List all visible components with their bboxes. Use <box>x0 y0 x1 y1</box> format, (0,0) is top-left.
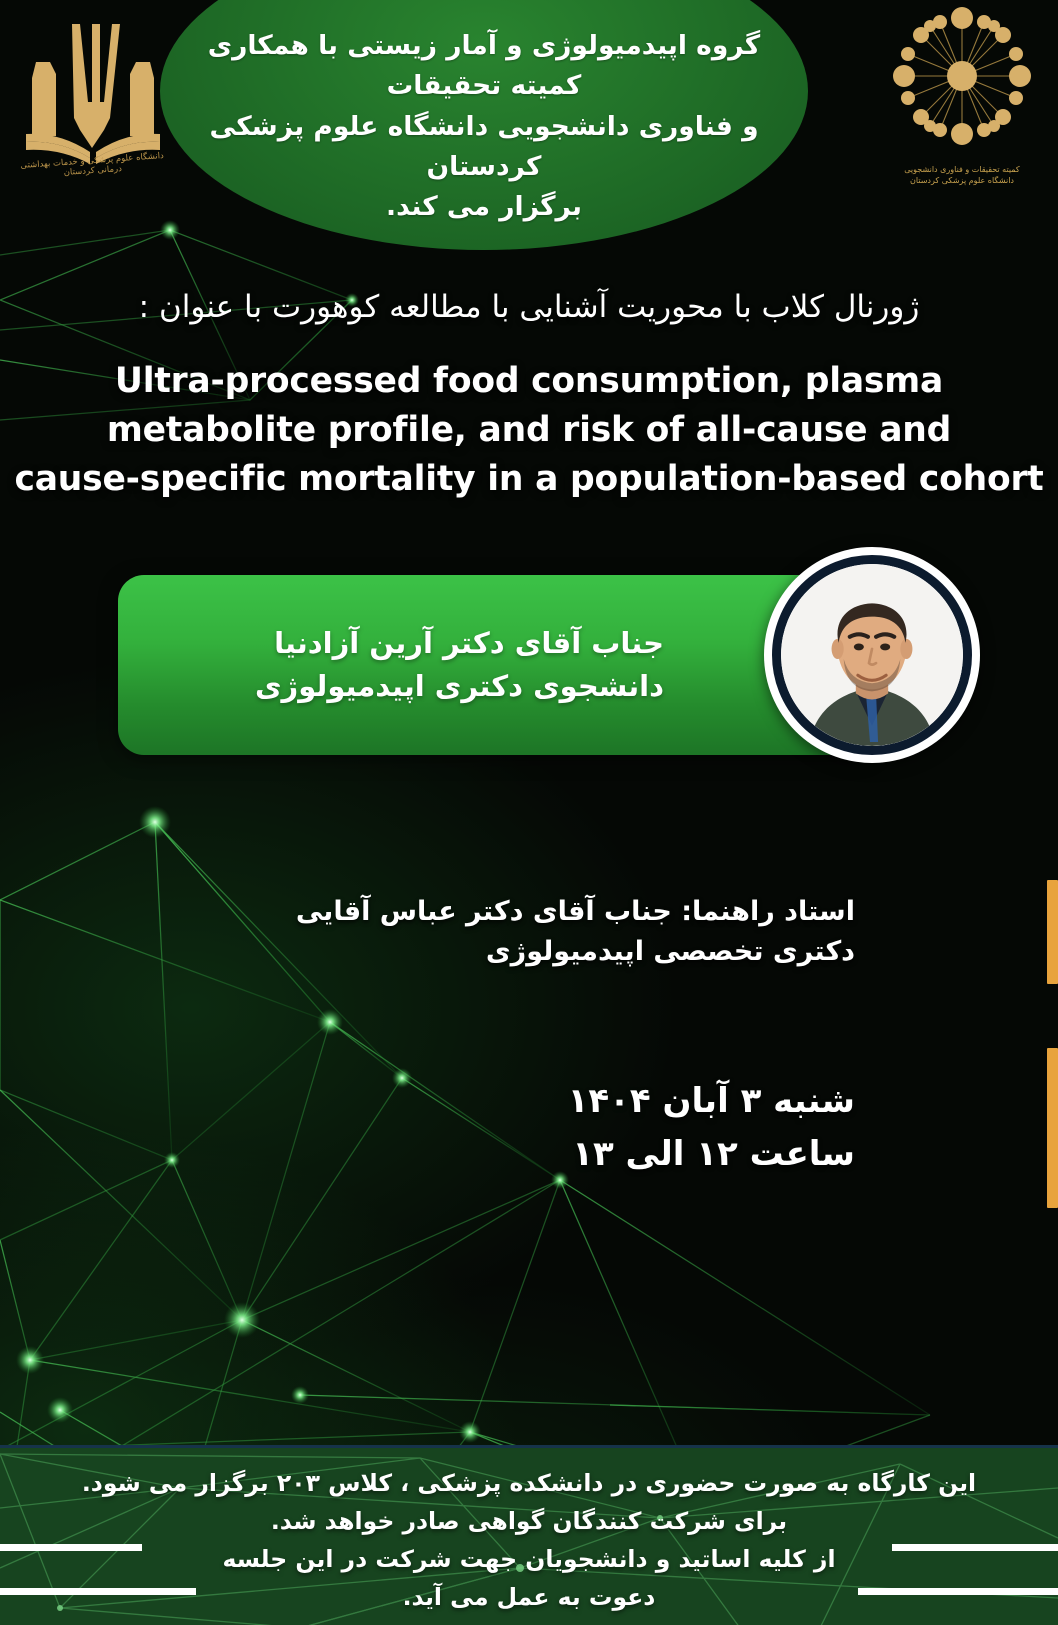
schedule-info: شنبه ۳ آبان ۱۴۰۴ ساعت ۱۲ الی ۱۳ <box>568 1075 855 1180</box>
footer-line-3: از کلیه اساتید و دانشجویان جهت شرکت در ا… <box>20 1540 1038 1578</box>
kurdistan-university-of-medical-sciences-logo: دانشگاه علوم پزشکی و خدمات بهداشتی درمان… <box>10 6 175 186</box>
speaker-section: جناب آقای دکتر آرین آزادنیا دانشجوی دکتر… <box>0 575 1058 775</box>
footer-rule-right-top <box>892 1544 1058 1551</box>
schedule-row: شنبه ۳ آبان ۱۴۰۴ ساعت ۱۲ الی ۱۳ <box>0 1048 1058 1208</box>
organizer-line-2: و فناوری دانشجویی دانشگاه علوم پزشکی کرد… <box>182 107 786 188</box>
title-block: ژورنال کلاب با محوریت آشنایی با مطالعه ک… <box>0 286 1058 504</box>
supervisor-degree: دکتری تخصصی اپیدمیولوژی <box>296 932 855 973</box>
footer-band: این کارگاه به صورت حضوری در دانشکده پزشک… <box>0 1445 1058 1625</box>
english-paper-title: Ultra-processed food consumption, plasma… <box>0 357 1058 504</box>
event-date: شنبه ۳ آبان ۱۴۰۴ <box>568 1075 855 1128</box>
english-title-line-3: cause-specific mortality in a population… <box>8 455 1050 504</box>
organizer-line-1: گروه اپیدمیولوژی و آمار زیستی با همکاری … <box>182 26 786 107</box>
avatar <box>764 547 980 763</box>
persian-subtitle: ژورنال کلاب با محوریت آشنایی با مطالعه ک… <box>0 286 1058 329</box>
footer-line-1: این کارگاه به صورت حضوری در دانشکده پزشک… <box>20 1464 1038 1502</box>
footer-line-4: دعوت به عمل می آید. <box>20 1578 1038 1616</box>
footer-rule-left-bottom <box>0 1588 196 1595</box>
avatar-ring <box>772 555 972 755</box>
supervisor-accent-bar <box>1047 880 1058 984</box>
footer-line-2: برای شرکت کنندگان گواهی صادر خواهد شد. <box>20 1502 1038 1540</box>
committee-caption-line-1: کمیته تحقیقات و فناوری دانشجویی <box>872 164 1052 176</box>
portrait-illustration-icon <box>781 564 963 746</box>
speaker-role: دانشجوی دکتری اپیدمیولوژی <box>118 665 664 709</box>
schedule-accent-bar <box>1047 1048 1058 1208</box>
event-time: ساعت ۱۲ الی ۱۳ <box>568 1128 855 1181</box>
supervisor-row: استاد راهنما: جناب آقای دکتر عباس آقایی … <box>0 880 1058 984</box>
english-title-line-2: metabolite profile, and risk of all-caus… <box>8 406 1050 455</box>
speaker-info: جناب آقای دکتر آرین آزادنیا دانشجوی دکتر… <box>118 622 834 709</box>
supervisor-info: استاد راهنما: جناب آقای دکتر عباس آقایی … <box>296 892 855 973</box>
speaker-portrait <box>781 564 963 746</box>
student-research-committee-logo: کمیته تحقیقات و فناوری دانشجویی دانشگاه … <box>872 4 1052 189</box>
footer-rule-right-bottom <box>858 1588 1058 1595</box>
committee-logo-caption: کمیته تحقیقات و فناوری دانشجویی دانشگاه … <box>872 164 1052 187</box>
committee-caption-line-2: دانشگاه علوم پزشکی کردستان <box>872 175 1052 187</box>
organizer-announcement: گروه اپیدمیولوژی و آمار زیستی با همکاری … <box>160 26 808 227</box>
organizer-line-3: برگزار می کند. <box>182 187 786 227</box>
poster-root: گروه اپیدمیولوژی و آمار زیستی با همکاری … <box>0 0 1058 1625</box>
footer-rule-left-top <box>0 1544 142 1551</box>
speaker-name: جناب آقای دکتر آرین آزادنیا <box>118 622 664 666</box>
supervisor-name: استاد راهنما: جناب آقای دکتر عباس آقایی <box>296 892 855 933</box>
english-title-line-1: Ultra-processed food consumption, plasma <box>8 357 1050 406</box>
network-node-emblem-icon <box>872 4 1052 152</box>
